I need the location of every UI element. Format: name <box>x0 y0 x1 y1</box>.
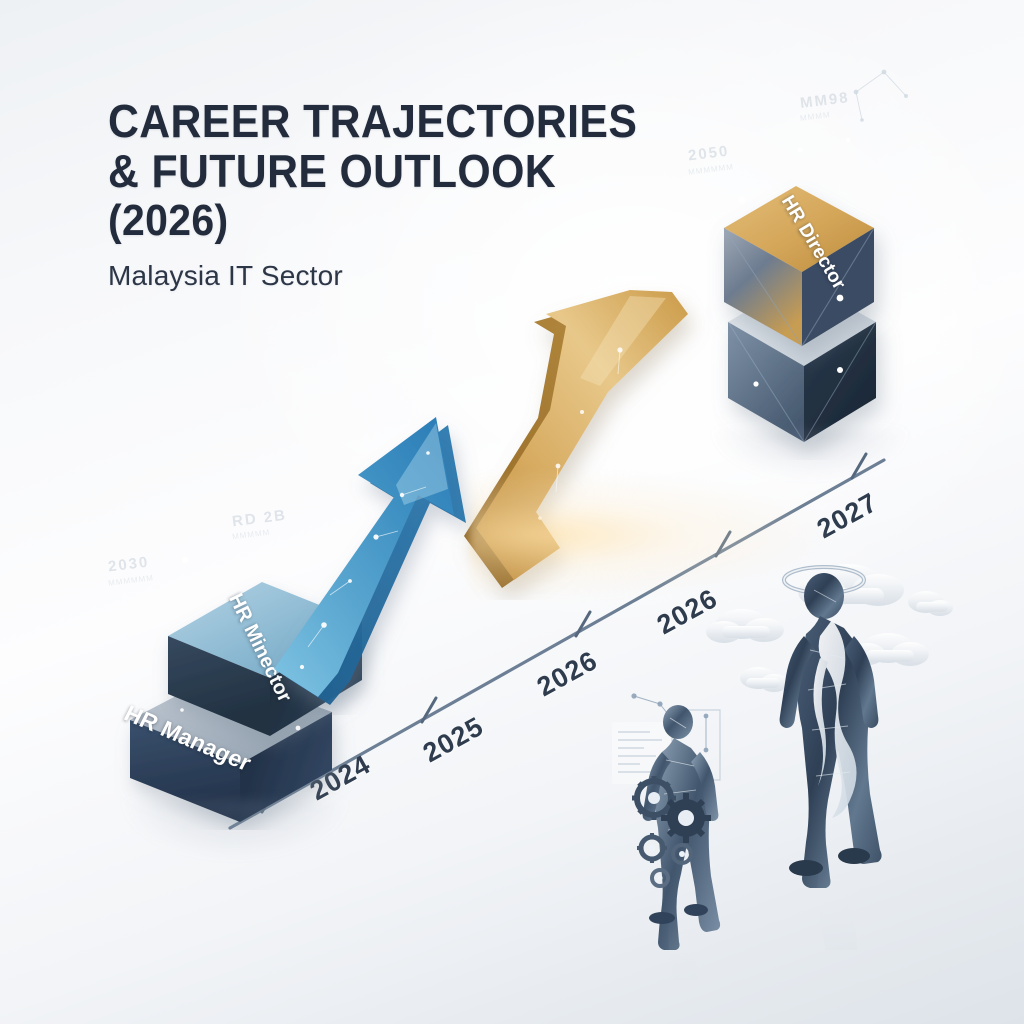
floor-reflection-left <box>120 800 350 860</box>
ai-humanoid-large <box>758 550 928 950</box>
infographic-canvas: 2030 MMMMMM RD 2B MMMMM 2050 MMMMMM MM98… <box>0 0 1024 1024</box>
career-cube-hr-director <box>700 180 910 460</box>
ai-humanoid-small <box>610 690 780 980</box>
floor-reflection-right <box>710 430 910 480</box>
growth-arrow-blue <box>190 385 530 715</box>
